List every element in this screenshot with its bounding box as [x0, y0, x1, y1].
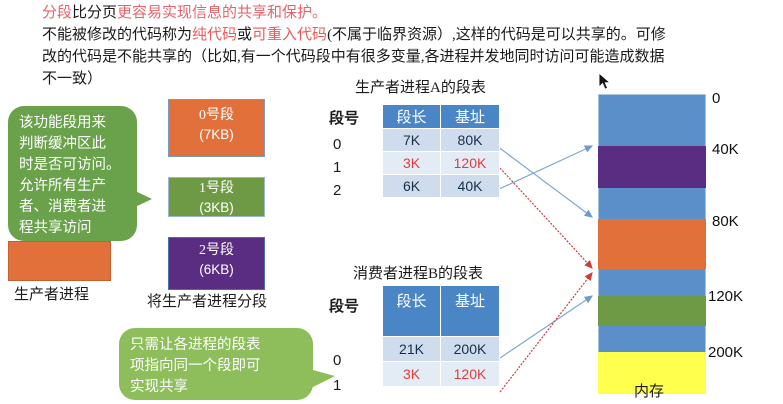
slide-canvas: 分段比分页更容易实现信息的共享和保护。 不能被修改的代码称为纯代码或可重入代码(…	[0, 0, 783, 404]
table-b-row-header: 段号	[329, 295, 359, 316]
segment-block-1-name: 1号段	[199, 181, 234, 196]
table-b-rownum-0: 0	[333, 352, 341, 369]
table-b-col-length: 段长	[383, 286, 441, 337]
callout-line: 判断缓冲区此	[19, 136, 106, 152]
table-row: 7K 80K	[383, 129, 500, 152]
paragraph-line-1-highlight-a: 分段	[42, 5, 72, 21]
memory-label-80k: 80K	[712, 213, 739, 230]
mouse-cursor	[598, 72, 612, 91]
table-a-r2-base: 40K	[441, 175, 500, 198]
table-b-col-base: 基址	[441, 286, 500, 337]
callout-line: 该功能段用来	[19, 115, 106, 131]
memory-label-0: 0	[712, 90, 720, 107]
table-b-title: 消费者进程B的段表	[353, 262, 483, 283]
callout-share-hint-text: 只需让各进程的段表 项指向同一个段即可 实现共享	[119, 328, 313, 400]
table-a-title: 生产者进程A的段表	[355, 76, 486, 97]
table-a-col-base: 基址	[441, 105, 500, 129]
paragraph-line-2-c: 或	[237, 27, 252, 43]
memory-band-80k	[598, 219, 706, 269]
paragraph-line-1: 分段比分页更容易实现信息的共享和保护。	[42, 2, 772, 24]
table-b-r1-length: 3K	[383, 362, 441, 387]
segment-block-0-size: (7KB)	[169, 125, 264, 144]
memory-label-200k: 200K	[708, 344, 743, 361]
callout-line: 允许所有生产	[19, 178, 106, 194]
memory-band-40k	[598, 146, 706, 188]
paragraph-line-2-e: (不属于临界资源）,这样的代码是可以共享的。可修	[327, 27, 666, 43]
paragraph-line-2-a: 不能被修改的代码称为	[42, 27, 192, 43]
paragraph-line-1-mid: 比分页	[72, 5, 117, 21]
memory-label-120k: 120K	[708, 288, 743, 305]
callout-function-segment-text: 该功能段用来 判断缓冲区此 时是否可访问。 允许所有生产 者、消费者进 程共享访…	[8, 106, 137, 241]
table-a: 段长 基址 7K 80K 3K 120K 6K 40K	[382, 104, 500, 198]
table-row: 21K 200K	[383, 337, 500, 362]
segment-block-1: 1号段 (3KB)	[168, 177, 265, 217]
table-a-col-length: 段长	[383, 105, 441, 129]
segment-block-1-size: (3KB)	[169, 198, 264, 217]
table-a-header-row: 段长 基址	[383, 105, 500, 129]
producer-process-block	[8, 241, 111, 281]
paragraph-line-2-term-2: 可重入代码	[252, 27, 327, 43]
callout-line: 时是否可访问。	[19, 157, 121, 173]
memory-caption: 内存	[634, 380, 664, 401]
table-a-r1-base: 120K	[441, 152, 500, 175]
table-a-r2-length: 6K	[383, 175, 441, 198]
paragraph-line-2-term-1: 纯代码	[192, 27, 237, 43]
paragraph-line-3: 改的代码是不能共享的（比如,有一个代码段中有很多变量,各进程并发地同时访问可能造…	[42, 46, 772, 68]
callout-line: 实现共享	[130, 379, 188, 395]
table-a-r1-length: 3K	[383, 152, 441, 175]
callout-line: 者、消费者进	[19, 199, 106, 215]
memory-band-120k	[598, 296, 706, 326]
table-a-rownum-1: 1	[333, 159, 341, 176]
callout-share-hint-tail	[309, 369, 335, 389]
segmentation-caption: 将生产者进程分段	[147, 290, 267, 311]
segment-block-0: 0号段 (7KB)	[168, 99, 265, 157]
callout-line: 只需让各进程的段表	[130, 337, 261, 353]
table-a-rownum-0: 0	[333, 136, 341, 153]
table-row: 3K 120K	[383, 152, 500, 175]
table-b: 段长 基址 21K 200K 3K 120K	[382, 285, 500, 387]
callout-line: 程共享访问	[19, 220, 92, 236]
segment-block-2-size: (6KB)	[169, 260, 264, 279]
table-row: 3K 120K	[383, 362, 500, 387]
table-a-r0-base: 80K	[441, 129, 500, 152]
table-b-r1-base: 120K	[441, 362, 500, 387]
callout-function-segment: 该功能段用来 判断缓冲区此 时是否可访问。 允许所有生产 者、消费者进 程共享访…	[8, 106, 137, 241]
paragraph-line-2: 不能被修改的代码称为纯代码或可重入代码(不属于临界资源）,这样的代码是可以共享的…	[42, 24, 772, 46]
segment-block-0-name: 0号段	[199, 108, 234, 123]
table-a-rownum-2: 2	[333, 182, 341, 199]
table-row: 6K 40K	[383, 175, 500, 198]
callout-function-segment-tail	[133, 190, 152, 208]
producer-process-caption: 生产者进程	[14, 283, 89, 304]
segment-block-2-name: 2号段	[199, 243, 234, 258]
table-b-r0-length: 21K	[383, 337, 441, 362]
table-b-header-row: 段长 基址	[383, 286, 500, 337]
memory-diagram	[598, 94, 706, 377]
memory-label-40k: 40K	[712, 141, 739, 158]
table-a-row-header: 段号	[329, 107, 359, 128]
paragraph-line-1-highlight-b: 更容易实现信息的共享和保护。	[117, 5, 327, 21]
callout-line: 项指向同一个段即可	[130, 358, 261, 374]
callout-share-hint: 只需让各进程的段表 项指向同一个段即可 实现共享	[119, 328, 313, 400]
segment-block-2: 2号段 (6KB)	[168, 237, 265, 290]
table-a-r0-length: 7K	[383, 129, 441, 152]
table-b-r0-base: 200K	[441, 337, 500, 362]
